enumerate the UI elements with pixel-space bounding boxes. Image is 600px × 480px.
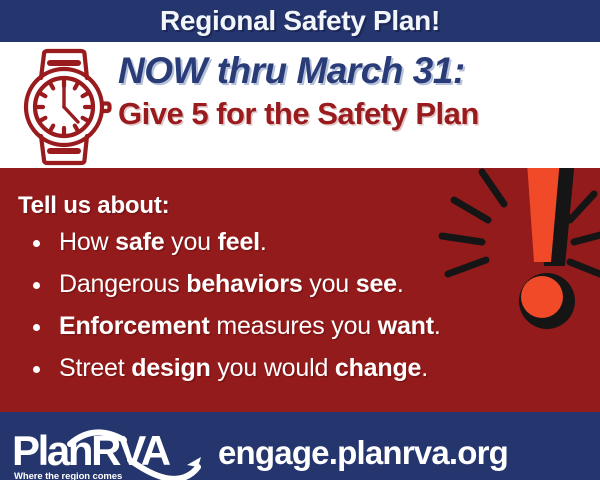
poster-graphic: Regional Safety Plan! xyxy=(0,0,600,480)
bullet-dot-icon xyxy=(33,324,40,331)
content-heading: Tell us about: xyxy=(18,192,169,220)
list-item: Enforcement measures you want. xyxy=(26,314,586,339)
page-title: Regional Safety Plan! xyxy=(160,5,440,37)
list-item-text: Dangerous behaviors you see. xyxy=(59,270,404,298)
top-banner: Regional Safety Plan! xyxy=(0,0,600,42)
engagement-url[interactable]: engage.planrva.org xyxy=(218,434,508,472)
bullet-dot-icon xyxy=(33,282,40,289)
list-item: How safe you feel. xyxy=(26,230,586,255)
logo-tagline: Where the region comes xyxy=(14,471,122,480)
list-item-text: How safe you feel. xyxy=(59,228,267,256)
bullet-dot-icon xyxy=(33,240,40,247)
promo-text: NOW thru March 31: Give 5 for the Safety… xyxy=(118,50,596,132)
promo-subtitle: Give 5 for the Safety Plan xyxy=(118,95,596,132)
list-item: Street design you would change. xyxy=(26,356,586,381)
promo-section: NOW thru March 31: Give 5 for the Safety… xyxy=(0,42,600,168)
wristwatch-icon xyxy=(8,48,120,166)
footer-bar: PlanRVA Where the region comes engage.pl… xyxy=(0,412,600,480)
bullet-dot-icon xyxy=(33,366,40,373)
list-item: Dangerous behaviors you see. xyxy=(26,272,586,297)
promo-dateline: NOW thru March 31: xyxy=(118,50,596,93)
content-section: Tell us about: How safe you feel. Danger… xyxy=(0,168,600,412)
planrva-logo[interactable]: PlanRVA Where the region comes xyxy=(12,424,217,480)
topic-list: How safe you feel. Dangerous behaviors y… xyxy=(26,230,586,398)
list-item-text: Street design you would change. xyxy=(59,354,428,382)
svg-text:PlanRVA: PlanRVA xyxy=(12,427,171,474)
list-item-text: Enforcement measures you want. xyxy=(59,312,441,340)
